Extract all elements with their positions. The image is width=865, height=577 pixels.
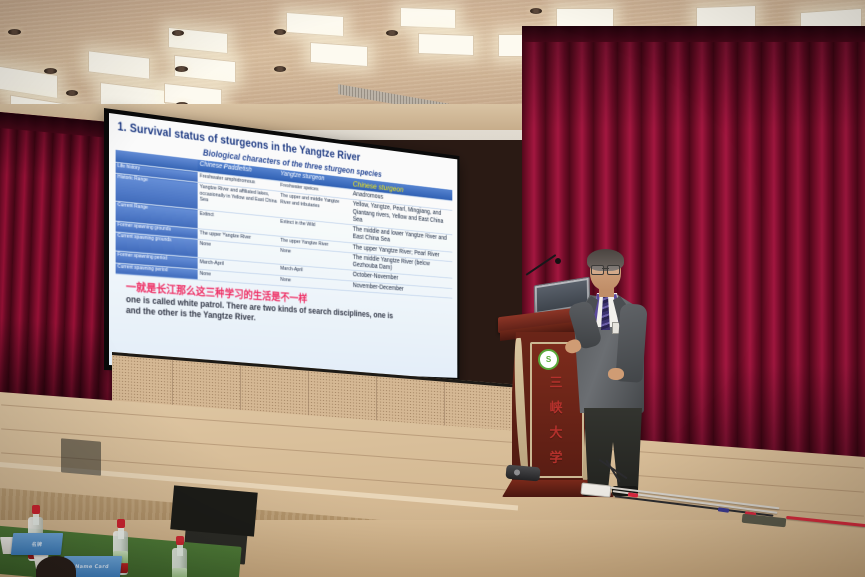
ceiling-downlight <box>530 8 542 14</box>
bottle-neck <box>177 544 183 556</box>
projection-screen: 1. Survival status of sturgeons in the Y… <box>104 108 539 370</box>
podium-character-1: 三 <box>544 372 568 391</box>
ceiling-downlight <box>274 29 286 35</box>
eyeglasses-icon <box>591 265 620 273</box>
presenter-speaker <box>568 252 660 500</box>
caption-english-line1: one is called white patrol. There are tw… <box>126 294 457 325</box>
ceiling-downlight <box>8 29 21 35</box>
wall-panel-seam <box>240 365 241 413</box>
podium-character-3: 大 <box>544 422 568 441</box>
podium-character-2: 峡 <box>544 397 568 416</box>
ceiling-panel-light <box>418 33 474 56</box>
microphone-head <box>555 258 561 264</box>
ceiling-panel-light <box>286 12 344 37</box>
device-indicator <box>514 469 521 476</box>
bottle-neck <box>118 527 124 539</box>
stage-front-vent <box>61 438 101 475</box>
floor-monitor-device <box>505 465 540 482</box>
lens-left <box>591 265 604 275</box>
podium-character-4: 学 <box>544 447 568 466</box>
bottle-label <box>172 568 187 577</box>
auditorium-scene: 1. Survival status of sturgeons in the Y… <box>0 0 865 577</box>
caption-english-line2: and the other is the Yangtze River. <box>126 305 457 335</box>
ceiling-downlight <box>175 66 188 72</box>
trousers <box>584 408 642 490</box>
wall-panel-seam <box>376 376 377 424</box>
name-card-text: Name Card <box>75 564 109 570</box>
lens-right <box>607 265 620 275</box>
ceiling-downlight <box>44 68 57 74</box>
wall-panel-seam <box>308 371 309 419</box>
ceiling-downlight <box>386 30 398 36</box>
ceiling-downlight <box>172 30 184 36</box>
bottle-cap <box>32 505 40 514</box>
university-logo-icon: S <box>538 349 559 370</box>
water-bottle <box>172 536 187 577</box>
name-card-text: 名牌 <box>31 541 42 548</box>
bottle-neck <box>33 513 39 525</box>
bottle-cap <box>117 519 125 528</box>
name-card: 名牌 <box>11 533 63 555</box>
foreground-chair <box>170 485 258 536</box>
wall-panel-seam <box>444 382 445 430</box>
glasses-bridge <box>602 268 609 269</box>
presentation-slide: 1. Survival status of sturgeons in the Y… <box>109 113 457 378</box>
ceiling-downlight <box>274 66 286 72</box>
ceiling-panel-light <box>400 7 456 29</box>
right-hand <box>608 368 624 380</box>
ceiling-panel-light <box>310 42 368 67</box>
wall-panel-seam <box>172 360 173 408</box>
bottle-cap <box>176 536 184 545</box>
ceiling-downlight <box>66 90 78 96</box>
